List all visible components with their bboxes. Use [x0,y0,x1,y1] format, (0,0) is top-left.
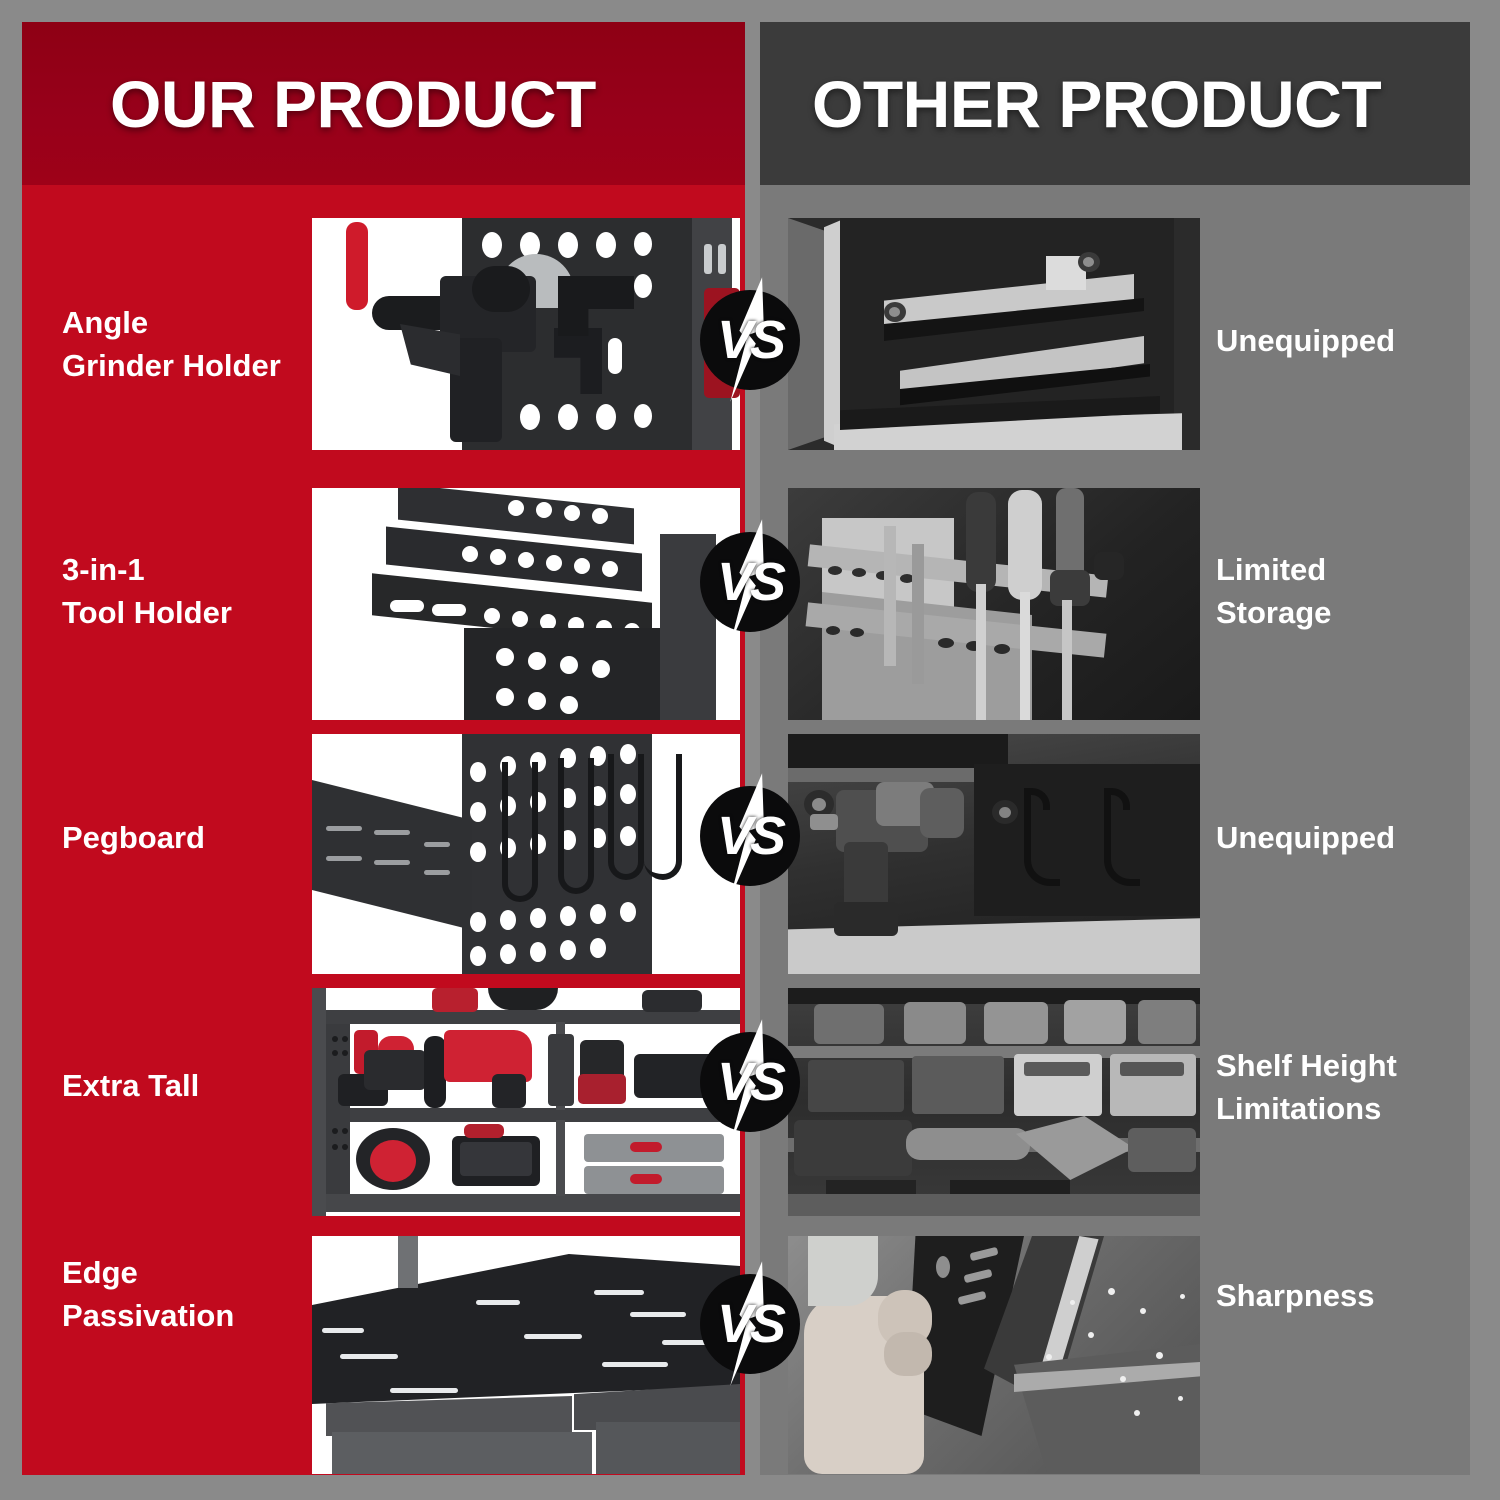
other-row-label-3: Unequipped [1216,817,1395,860]
other-row-label-2: Limited Storage [1216,549,1331,635]
other-row-label-5: Sharpness [1216,1275,1375,1318]
our-row-image-5 [312,1236,740,1474]
other-row-image-1 [788,218,1200,450]
other-product-title: OTHER PRODUCT [812,71,1381,137]
comparison-infographic: OUR PRODUCT Angle Grinder Holder 3-in-1 … [0,0,1500,1500]
our-row-image-4 [312,988,740,1216]
other-row-image-3 [788,734,1200,974]
our-row-image-3 [312,734,740,974]
our-row-label-3: Pegboard [62,817,205,860]
other-product-header: OTHER PRODUCT [760,22,1470,185]
other-row-image-2 [788,488,1200,720]
other-product-column: OTHER PRODUCT Unequipped Limited Storage… [760,22,1470,1475]
our-product-header: OUR PRODUCT [22,22,745,185]
our-row-image-1 [312,218,740,450]
other-row-label-4: Shelf Height Limitations [1216,1045,1397,1131]
our-row-image-2 [312,488,740,720]
our-product-column: OUR PRODUCT Angle Grinder Holder 3-in-1 … [22,22,745,1475]
our-row-label-1: Angle Grinder Holder [62,302,281,388]
our-row-label-4: Extra Tall [62,1065,199,1108]
our-row-label-2: 3-in-1 Tool Holder [62,549,232,635]
our-product-title: OUR PRODUCT [110,71,596,137]
other-row-image-4 [788,988,1200,1216]
other-row-image-5 [788,1236,1200,1474]
other-row-label-1: Unequipped [1216,320,1395,363]
our-row-label-5: Edge Passivation [62,1252,234,1338]
